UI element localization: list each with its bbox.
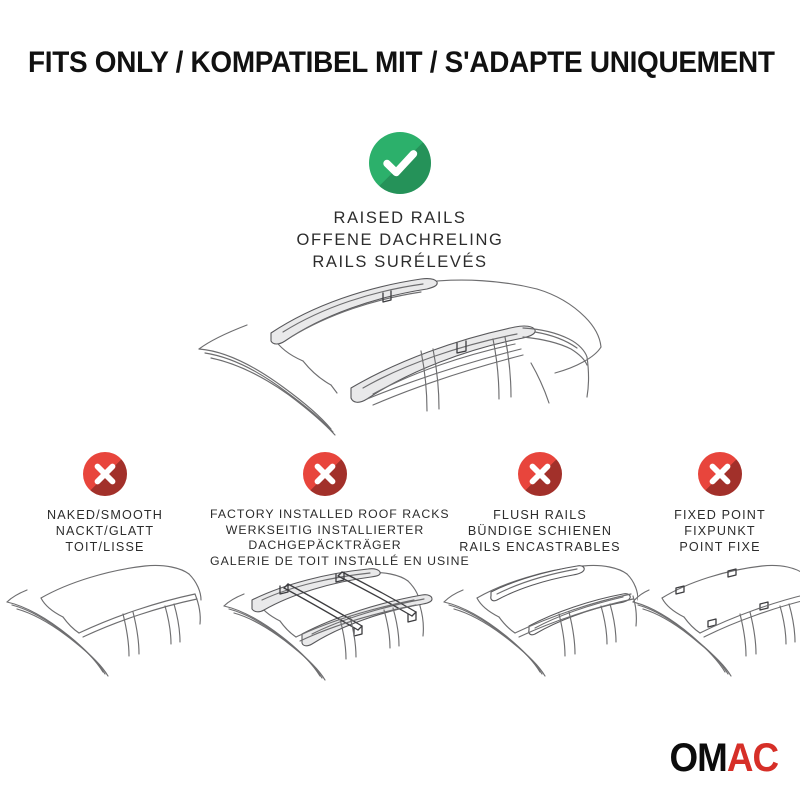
label-line-2: NACKT/GLATT [0,523,210,539]
header: FITS ONLY / KOMPATIBEL MIT / S'ADAPTE UN… [0,48,800,78]
compatible-label-fr: RAILS SURÉLEVÉS [0,252,800,274]
x-circle-icon [303,452,347,496]
car-roof-with-flush-rails-illustration [440,552,640,682]
incompatible-labels: FLUSH RAILS BÜNDIGE SCHIENEN RAILS ENCAS… [440,507,640,555]
page-title: FITS ONLY / KOMPATIBEL MIT / S'ADAPTE UN… [28,48,772,78]
label-line-3: DACHGEPÄCKTRÄGER [210,538,440,554]
compatible-section: RAISED RAILS OFFENE DACHRELING RAILS SUR… [0,132,800,273]
label-line-1: FACTORY INSTALLED ROOF RACKS [210,507,440,523]
incompatible-item-flush-rails: FLUSH RAILS BÜNDIGE SCHIENEN RAILS ENCAS… [440,452,640,555]
incompatible-labels: NAKED/SMOOTH NACKT/GLATT TOIT/LISSE [0,507,210,555]
compatibility-infographic: FITS ONLY / KOMPATIBEL MIT / S'ADAPTE UN… [0,0,800,800]
x-circle-icon [83,452,127,496]
label-line-2: BÜNDIGE SCHIENEN [440,523,640,539]
incompatible-item-factory-racks: FACTORY INSTALLED ROOF RACKS WERKSEITIG … [210,452,440,570]
omac-logo: OMAC [669,738,778,778]
car-roof-with-raised-rails-illustration [185,275,615,450]
check-circle-icon [369,132,431,194]
logo-text-accent: AC [727,736,778,780]
incompatible-labels: FACTORY INSTALLED ROOF RACKS WERKSEITIG … [210,507,440,570]
car-roof-naked-smooth-illustration [0,552,210,682]
incompatible-item-fixed-point: FIXED POINT FIXPUNKT POINT FIXE [640,452,800,555]
x-circle-icon [698,452,742,496]
label-line-2: WERKSEITIG INSTALLIERTER [210,523,440,539]
logo-text-dark: OM [669,736,726,780]
compatible-label-en: RAISED RAILS [0,208,800,230]
label-line-1: NAKED/SMOOTH [0,507,210,523]
incompatible-labels: FIXED POINT FIXPUNKT POINT FIXE [640,507,800,555]
incompatible-section: NAKED/SMOOTH NACKT/GLATT TOIT/LISSE [0,452,800,570]
incompatible-item-naked-smooth: NAKED/SMOOTH NACKT/GLATT TOIT/LISSE [0,452,210,555]
label-line-1: FIXED POINT [640,507,800,523]
compatible-labels: RAISED RAILS OFFENE DACHRELING RAILS SUR… [0,208,800,273]
car-roof-with-factory-crossbars-illustration [210,562,440,687]
x-circle-icon [518,452,562,496]
label-line-2: FIXPUNKT [640,523,800,539]
label-line-1: FLUSH RAILS [440,507,640,523]
car-roof-with-fixed-points-illustration [632,552,792,682]
compatible-label-de: OFFENE DACHRELING [0,230,800,252]
